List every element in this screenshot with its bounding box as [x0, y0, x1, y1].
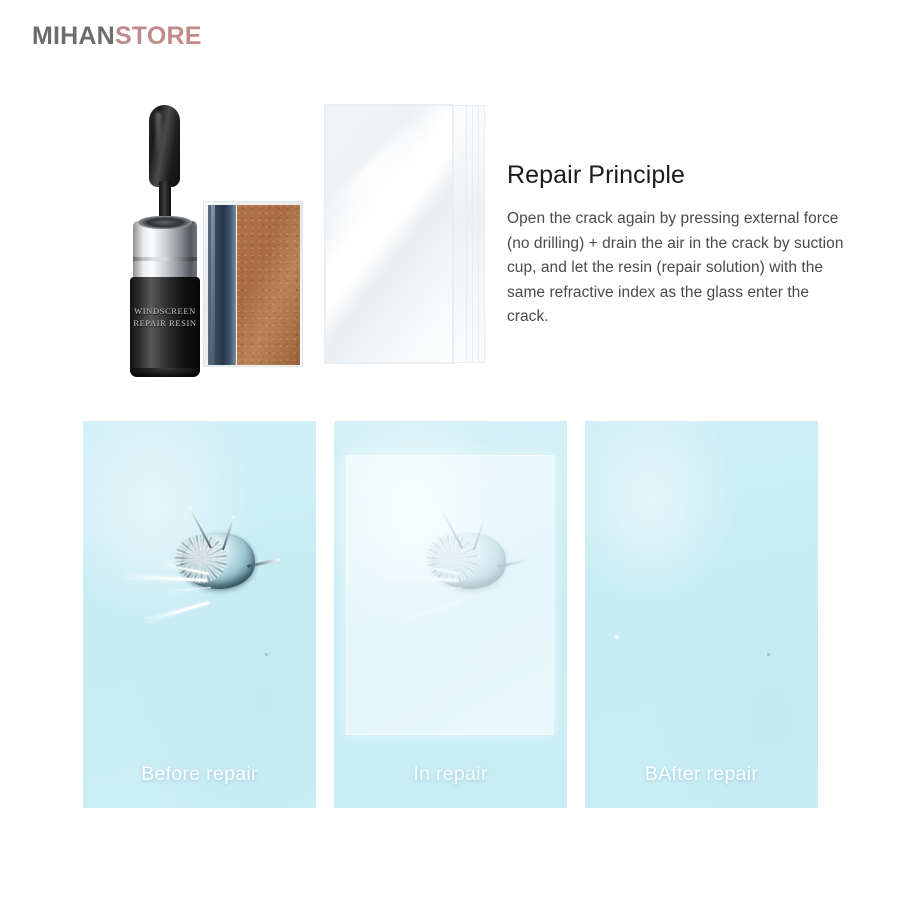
crack-whisker — [167, 587, 211, 592]
bottle-label-line-1: WINDSCREEN — [130, 305, 200, 317]
panel-label-before: Before repair — [83, 763, 316, 786]
product-image: WINDSCREEN REPAIR RESIN — [95, 95, 485, 395]
chip-shatter — [426, 535, 478, 583]
film-sheet-front — [325, 105, 453, 363]
resin-bottle-icon: WINDSCREEN REPAIR RESIN — [120, 105, 210, 380]
bottle-collar-icon — [133, 221, 197, 283]
panel-background — [585, 421, 818, 808]
section-body: Open the crack again by pressing externa… — [507, 207, 847, 330]
crack-whisker — [418, 587, 462, 592]
bottle-label: WINDSCREEN REPAIR RESIN — [130, 305, 200, 329]
copy-block: Repair Principle Open the crack again by… — [507, 160, 847, 330]
windshield-chip-graphic — [378, 503, 528, 623]
panel-label-in-repair: In repair — [334, 763, 567, 786]
blade-and-pad-pack-icon — [203, 201, 303, 367]
crack-whisker — [396, 601, 460, 622]
glass-speck — [767, 653, 770, 656]
section-title: Repair Principle — [507, 160, 847, 190]
brand-logo-primary: MIHAN — [32, 22, 115, 50]
product-detail-page: MIHANSTORE WINDSCREEN REPAIR RESIN — [0, 0, 900, 900]
bottle-label-line-2: REPAIR RESIN — [130, 317, 200, 329]
panel-before-repair: Before repair — [83, 421, 316, 808]
windshield-chip-graphic — [127, 503, 277, 623]
chip-shatter — [175, 535, 227, 583]
curing-film-stack-icon — [325, 105, 485, 363]
glass-speck — [615, 635, 619, 639]
crack-whisker — [145, 601, 209, 622]
bottle-body-icon: WINDSCREEN REPAIR RESIN — [130, 277, 200, 377]
panel-in-repair: In repair — [334, 421, 567, 808]
panel-label-after: BAfter repair — [585, 763, 818, 786]
brand-logo-secondary: STORE — [115, 22, 202, 50]
panel-after-repair: BAfter repair — [585, 421, 818, 808]
razor-blade-icon — [208, 205, 236, 365]
glass-speck — [265, 653, 268, 656]
abrasive-pad-icon — [237, 205, 300, 365]
brand-logo: MIHANSTORE — [32, 24, 202, 49]
comparison-panels: Before repair In repair BA — [83, 421, 818, 808]
hero-section: WINDSCREEN REPAIR RESIN Repair Princ — [0, 95, 900, 395]
dropper-bulb-icon — [149, 105, 180, 187]
